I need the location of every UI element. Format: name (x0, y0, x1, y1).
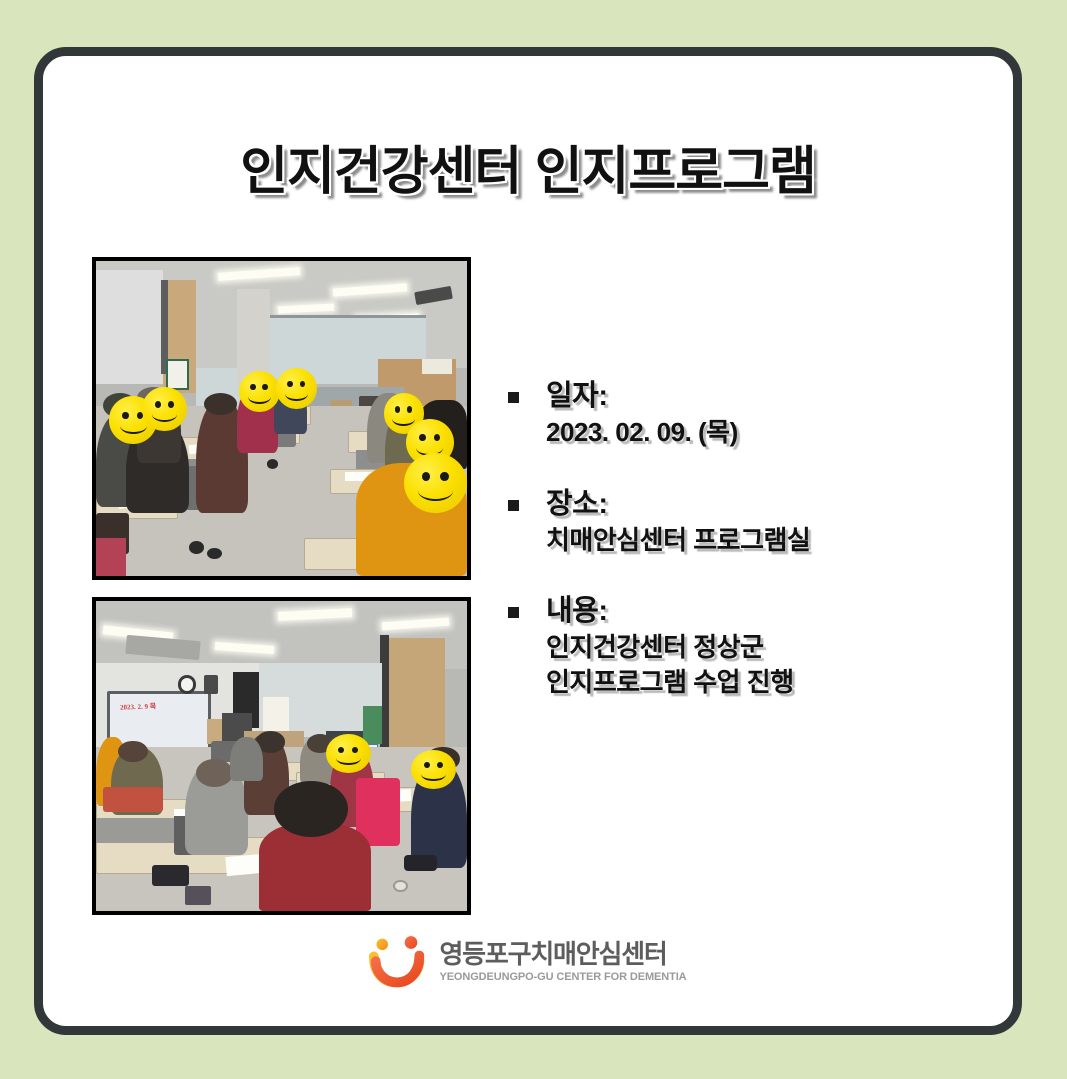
desk-panel (96, 818, 178, 843)
info-label-date: 일자: (546, 378, 970, 415)
glass-frame (270, 315, 426, 319)
info-value-content: 인지건강센터 정상군 인지프로그램 수업 진행 (546, 630, 970, 699)
chair-wheel (267, 459, 278, 468)
wall-speaker (204, 675, 219, 694)
pink-item (96, 538, 126, 576)
green-board (363, 706, 382, 743)
square-bullet-icon (508, 500, 519, 511)
participant-body (259, 824, 370, 911)
logo-name-ko: 영등포구치매안심센터 (439, 941, 686, 968)
shoe (404, 855, 437, 871)
logo-name-en: YEONGDEUNGPO-GU CENTER FOR DEMENTIA (439, 971, 686, 983)
red-garment (103, 787, 162, 812)
participant-body (230, 737, 263, 780)
notice-board (166, 359, 188, 391)
info-item-content: 내용: 인지건강센터 정상군 인지프로그램 수업 진행 (500, 593, 970, 699)
cabinet-items (422, 359, 452, 375)
photo-classroom-participants-writing (92, 257, 471, 580)
info-value-date: 2023. 02. 09. (목) (546, 415, 970, 450)
left-wall-panel (96, 270, 163, 383)
smiley-face-icon (411, 750, 456, 789)
info-item-date: 일자: 2023. 02. 09. (목) (500, 378, 970, 450)
photo-classroom-rear-view-whiteboard: 2023. 2. 9 목 (92, 597, 471, 915)
participant-head (118, 741, 148, 763)
poster-card: 인지건강센터 인지프로그램 (34, 47, 1022, 1035)
photo-scene-top (96, 261, 467, 576)
logo-text-block: 영등포구치매안심센터 YEONGDEUNGPO-GU CENTER FOR DE… (439, 941, 686, 983)
info-item-place: 장소: 치매안심센터 프로그램실 (500, 486, 970, 558)
phone-on-desk (185, 886, 211, 905)
bag-on-floor (152, 865, 189, 887)
smiley-face-icon (404, 453, 467, 513)
chair-wheel (207, 548, 222, 559)
window-bright (263, 697, 289, 734)
participant-head (274, 781, 348, 837)
info-list: 일자: 2023. 02. 09. (목) 장소: 치매안심센터 프로그램실 내… (500, 378, 970, 700)
whiteboard-text: 2023. 2. 9 목 (120, 702, 156, 711)
chair-wheel (393, 880, 408, 892)
two-figures-embrace-logo (369, 936, 427, 988)
info-label-place: 장소: (546, 486, 970, 523)
smiley-face-icon (276, 368, 317, 409)
door-panel (207, 719, 222, 744)
participant-head (196, 759, 233, 787)
square-bullet-icon (508, 607, 519, 618)
page-title: 인지건강센터 인지프로그램 (43, 129, 1013, 204)
footer-logo: 영등포구치매안심센터 YEONGDEUNGPO-GU CENTER FOR DE… (43, 936, 1013, 988)
chair-wheel (189, 541, 204, 554)
smiley-face-icon (326, 734, 371, 773)
wall-clock (178, 675, 197, 694)
smiley-face-icon (142, 387, 187, 431)
info-value-place: 치매안심센터 프로그램실 (546, 523, 970, 558)
square-bullet-icon (508, 392, 519, 403)
photo-scene-bottom: 2023. 2. 9 목 (96, 601, 467, 911)
smiley-face-icon (239, 371, 280, 412)
info-label-content: 내용: (546, 593, 970, 630)
